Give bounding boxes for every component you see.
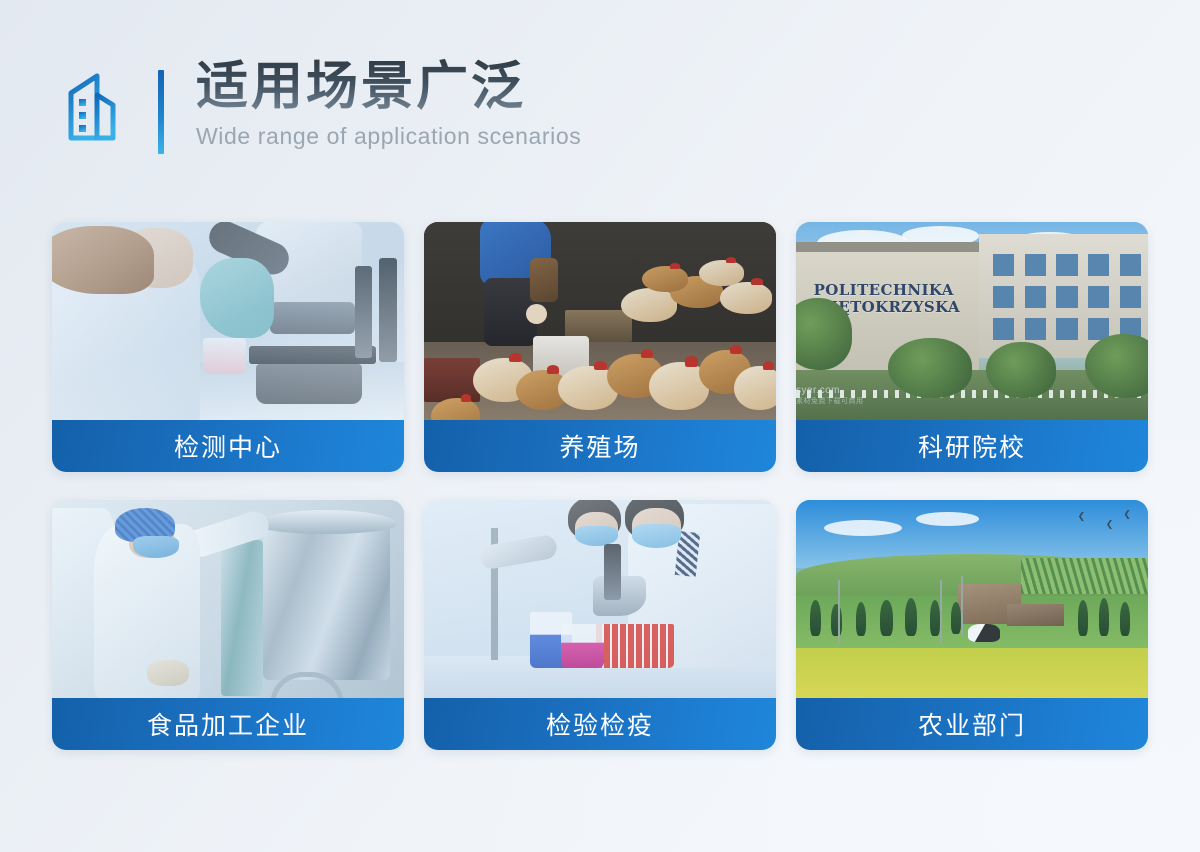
header-divider	[158, 70, 164, 154]
card-label: 农业部门	[796, 698, 1148, 750]
card-label: 检测中心	[52, 420, 404, 472]
page-subtitle: Wide range of application scenarios	[196, 123, 581, 150]
card-photo-inspection-quarantine-lab	[424, 500, 776, 700]
scenario-card-breeding-farm[interactable]: 养殖场	[424, 222, 776, 472]
card-label: 检验检疫	[424, 698, 776, 750]
application-scenarios-page: 适用场景广泛 Wide range of application scenari…	[0, 0, 1200, 852]
card-photo-scientist-at-microscope	[52, 222, 404, 422]
card-photo-poultry-farm	[424, 222, 776, 422]
card-photo-university-campus: POLITECHNIKA WIĘTOKRZYSKA syer.com 素材免费下…	[796, 222, 1148, 422]
scenario-card-research-institute[interactable]: POLITECHNIKA WIĘTOKRZYSKA syer.com 素材免费下…	[796, 222, 1148, 472]
page-header: 适用场景广泛 Wide range of application scenari…	[0, 0, 1200, 200]
scenario-card-agriculture-department[interactable]: ❮ ❮ ❮	[796, 500, 1148, 750]
page-title: 适用场景广泛	[196, 56, 581, 117]
building-icon	[64, 68, 140, 146]
scenario-card-grid: 检测中心	[52, 222, 1148, 750]
scenario-card-inspection-quarantine[interactable]: 检验检疫	[424, 500, 776, 750]
header-text-block: 适用场景广泛 Wide range of application scenari…	[196, 56, 581, 150]
card-label: 养殖场	[424, 420, 776, 472]
card-label: 科研院校	[796, 420, 1148, 472]
card-photo-food-processing-plant	[52, 500, 404, 700]
card-label: 食品加工企业	[52, 698, 404, 750]
scenario-card-detection-center[interactable]: 检测中心	[52, 222, 404, 472]
card-photo-agricultural-countryside: ❮ ❮ ❮	[796, 500, 1148, 700]
scenario-card-food-processing[interactable]: 食品加工企业	[52, 500, 404, 750]
